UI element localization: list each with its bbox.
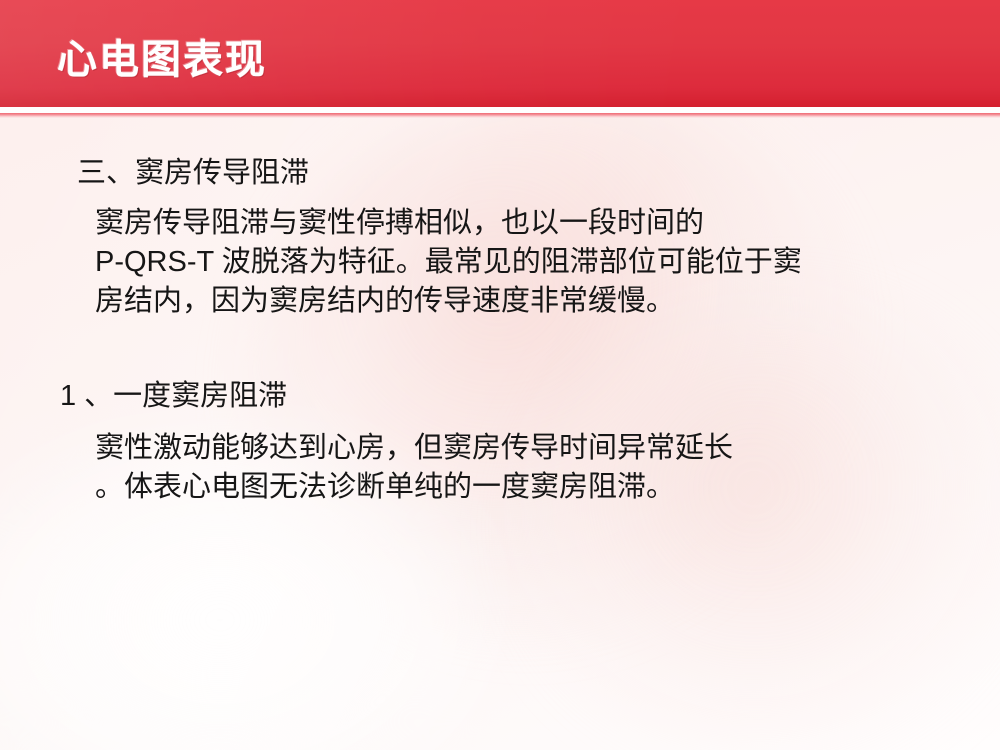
section-2-heading: 1 、一度窦房阻滞 [60,377,287,416]
slide-header-banner: 心电图表现 [0,0,1000,107]
section-2-paragraph-line-1: 窦性激动能够达到心房，但窦房传导时间异常延长 [95,429,733,468]
slide-title: 心电图表现 [57,36,267,84]
section-1-paragraph-line-2: P-QRS-T 波脱落为特征。最常见的阻滞部位可能位于窦 [95,243,802,282]
section-1-paragraph-line-3: 房结内，因为窦房结内的传导速度非常缓慢。 [95,282,675,321]
slide-content: 三、窦房传导阻滞 窦房传导阻滞与窦性停搏相似，也以一段时间的 P-QRS-T 波… [0,118,1000,750]
section-1-heading: 三、窦房传导阻滞 [77,154,309,193]
slide: 心电图表现 三、窦房传导阻滞 窦房传导阻滞与窦性停搏相似，也以一段时间的 P-Q… [0,0,1000,750]
section-2-paragraph-line-2: 。体表心电图无法诊断单纯的一度窦房阻滞。 [95,468,675,507]
section-1-paragraph-line-1: 窦房传导阻滞与窦性停搏相似，也以一段时间的 [95,204,704,243]
